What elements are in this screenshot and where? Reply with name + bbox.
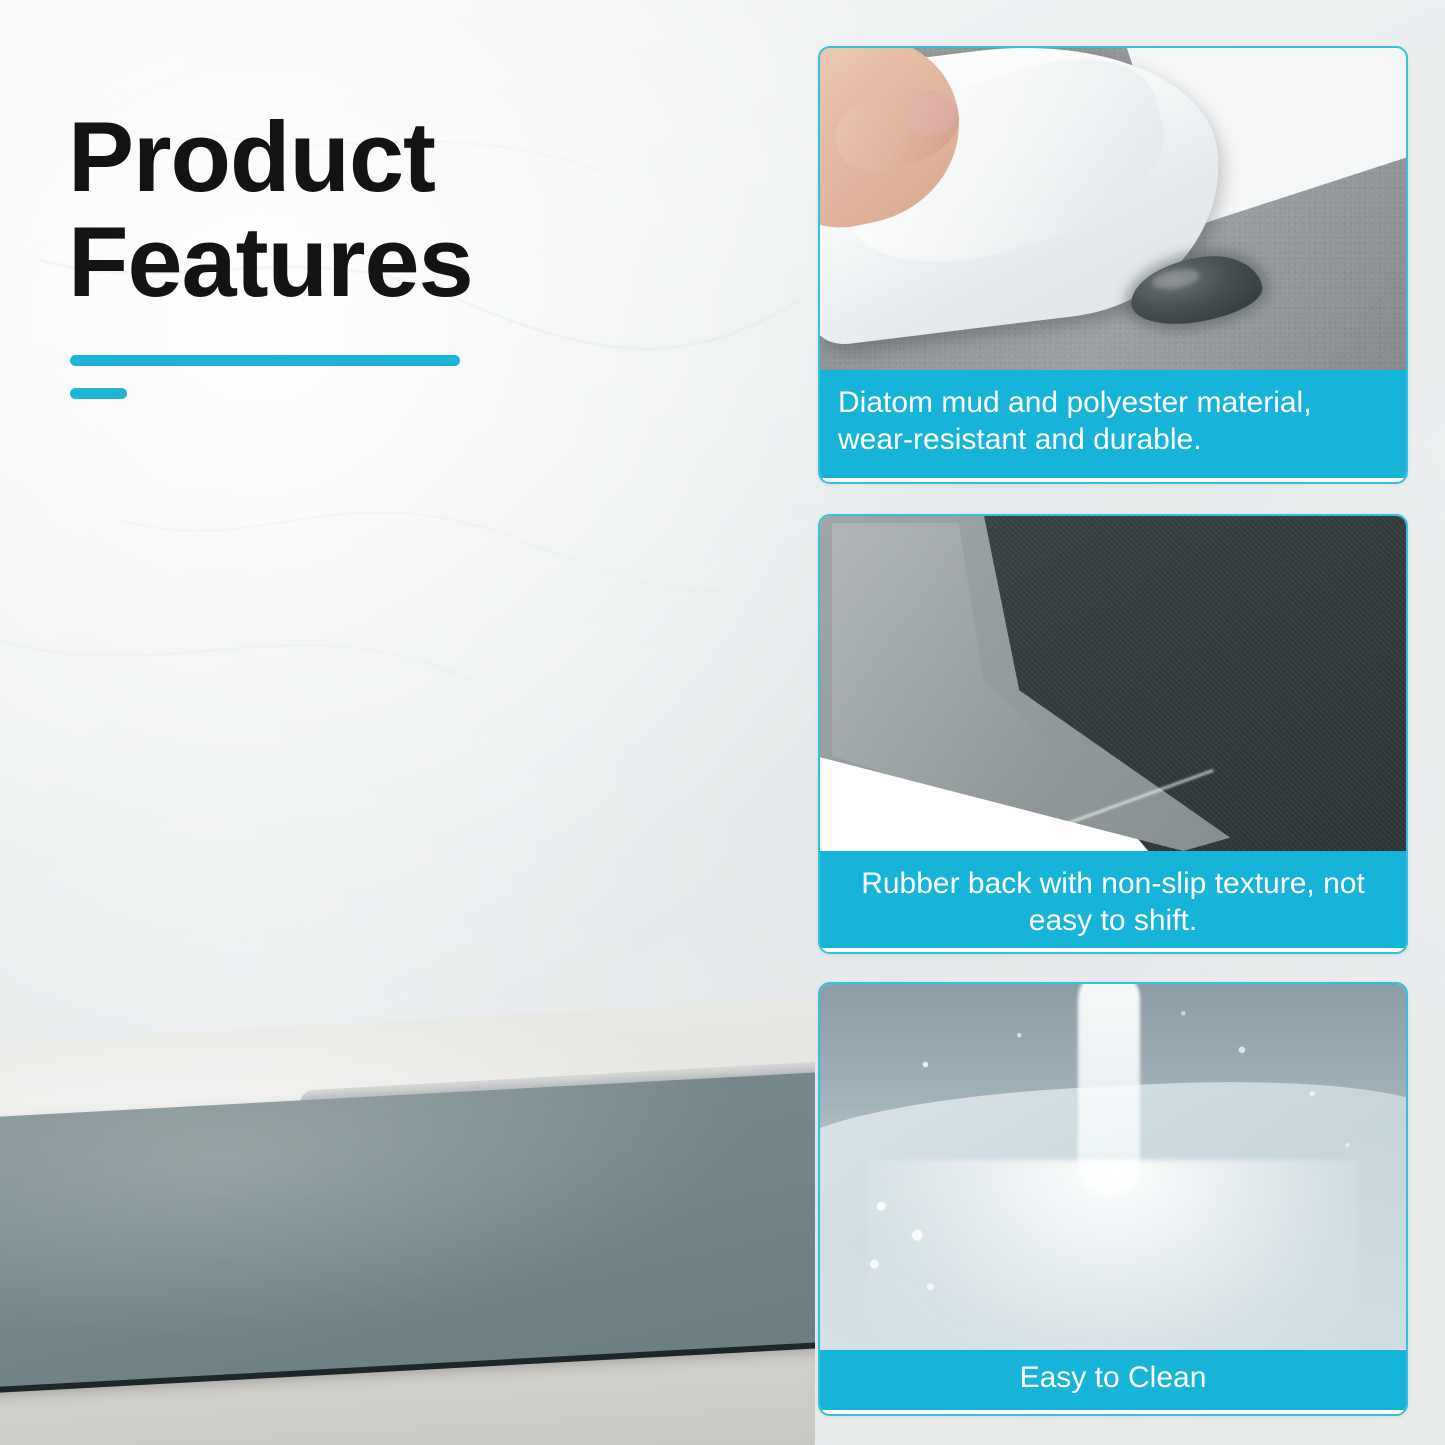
product-features-poster: Product Features — [0, 0, 1445, 1445]
feature-card-material: Diatom mud and polyester material, wear-… — [818, 46, 1408, 484]
page-title-line-2: Features — [68, 210, 708, 315]
page-title: Product Features — [68, 105, 708, 315]
feature-photo-material — [820, 48, 1406, 370]
accent-bar-short — [70, 388, 127, 399]
feature-caption-nonslip: Rubber back with non-slip texture, not e… — [820, 851, 1406, 948]
feature-photo-nonslip — [820, 516, 1406, 851]
title-accent-bars — [70, 355, 460, 399]
feature-photo-easy-clean — [820, 984, 1406, 1350]
feature-caption-easy-clean: Easy to Clean — [820, 1350, 1406, 1410]
feature-card-nonslip: Rubber back with non-slip texture, not e… — [818, 514, 1408, 954]
accent-bar-long — [70, 355, 460, 366]
mat-sheen — [0, 1071, 815, 1389]
feature-card-easy-clean: Easy to Clean — [818, 982, 1408, 1416]
dish-drying-mat — [0, 1071, 815, 1389]
feature-caption-material: Diatom mud and polyester material, wear-… — [820, 370, 1406, 478]
water-foam — [832, 1174, 996, 1335]
lifestyle-product-photo — [0, 690, 815, 1445]
page-title-line-1: Product — [68, 105, 708, 210]
